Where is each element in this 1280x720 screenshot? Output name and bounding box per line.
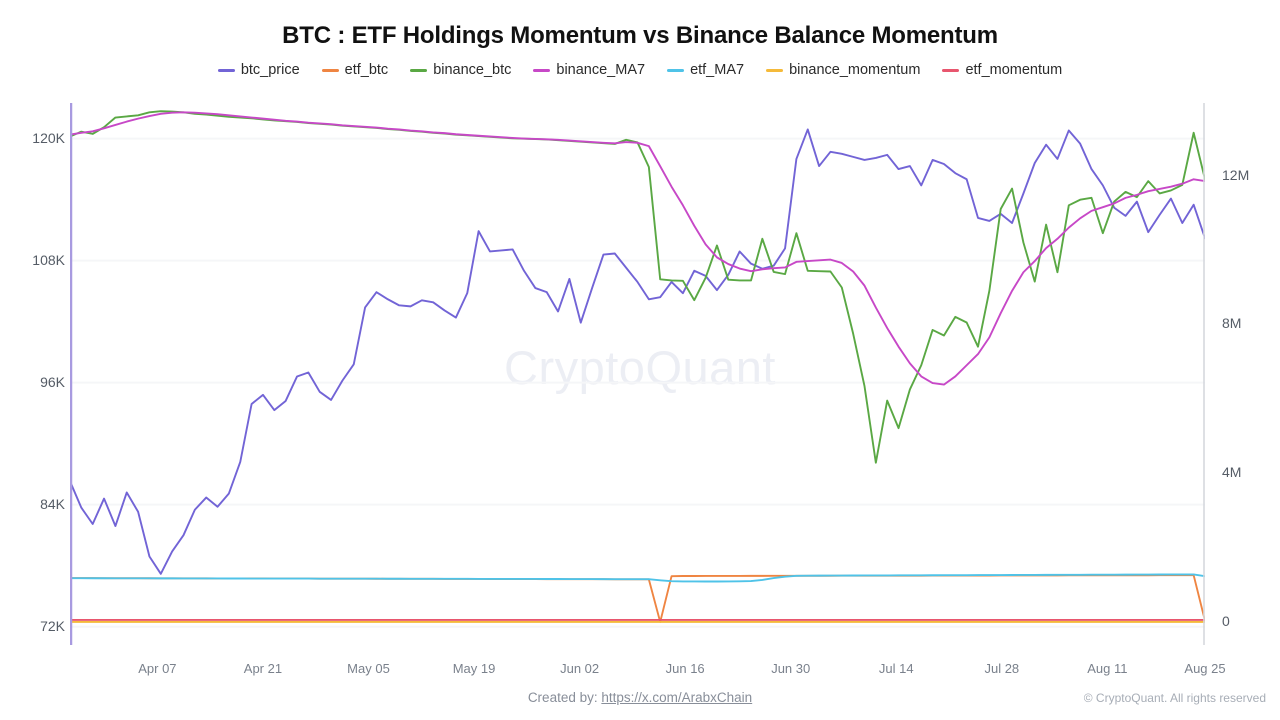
y-axis-right-tick: 8M [1222,315,1241,331]
legend-swatch-icon [533,69,550,72]
legend-swatch-icon [322,69,339,72]
series-line-btc_price [70,129,1205,573]
legend-item-label: binance_btc [433,62,511,78]
legend-item-etf_momentum[interactable]: etf_momentum [942,62,1062,78]
x-axis-tick: Jun 02 [560,661,599,676]
x-axis-tick: May 05 [347,661,390,676]
chart-legend: btc_priceetf_btcbinance_btcbinance_MA7et… [0,62,1280,78]
x-axis-tick: Apr 07 [138,661,176,676]
legend-item-binance_momentum[interactable]: binance_momentum [766,62,920,78]
legend-item-binance_btc[interactable]: binance_btc [410,62,511,78]
x-axis-tick: Apr 21 [244,661,282,676]
chart-plot-svg [70,103,1205,645]
series-line-etf_btc [70,575,1205,622]
legend-item-label: etf_momentum [965,62,1062,78]
chart-container: BTC : ETF Holdings Momentum vs Binance B… [0,0,1280,720]
x-axis-tick: Jul 28 [984,661,1019,676]
author-link[interactable]: https://x.com/ArabxChain [601,690,752,705]
legend-item-btc_price[interactable]: btc_price [218,62,300,78]
y-axis-left-tick: 72K [40,618,65,634]
x-axis-tick: Aug 25 [1184,661,1225,676]
y-axis-left-tick: 84K [40,496,65,512]
legend-swatch-icon [766,69,783,72]
legend-swatch-icon [667,69,684,72]
legend-item-label: etf_btc [345,62,389,78]
y-axis-left-tick: 108K [32,252,65,268]
legend-swatch-icon [942,69,959,72]
y-axis-left-tick: 120K [32,130,65,146]
series-line-etf_MA7 [70,574,1205,581]
legend-item-label: btc_price [241,62,300,78]
y-axis-left-tick: 96K [40,374,65,390]
legend-item-etf_btc[interactable]: etf_btc [322,62,389,78]
x-axis-tick: Jun 30 [771,661,810,676]
legend-item-label: etf_MA7 [690,62,744,78]
plot-area [70,103,1205,645]
series-line-binance_MA7 [70,112,1205,384]
legend-item-label: binance_momentum [789,62,920,78]
x-axis-tick: Jul 14 [879,661,914,676]
legend-swatch-icon [410,69,427,72]
x-axis-tick: Aug 11 [1087,661,1127,676]
footer-copyright: © CryptoQuant. All rights reserved [1084,691,1266,705]
legend-swatch-icon [218,69,235,72]
y-axis-right-tick: 0 [1222,613,1230,629]
chart-title: BTC : ETF Holdings Momentum vs Binance B… [0,22,1280,50]
x-axis-tick: Jun 16 [666,661,705,676]
footer-credit-prefix: Created by: [528,690,602,705]
legend-item-binance_ma7[interactable]: binance_MA7 [533,62,645,78]
x-axis-tick: May 19 [453,661,496,676]
y-axis-right-tick: 12M [1222,167,1249,183]
legend-item-etf_ma7[interactable]: etf_MA7 [667,62,744,78]
y-axis-right-tick: 4M [1222,464,1241,480]
legend-item-label: binance_MA7 [556,62,645,78]
